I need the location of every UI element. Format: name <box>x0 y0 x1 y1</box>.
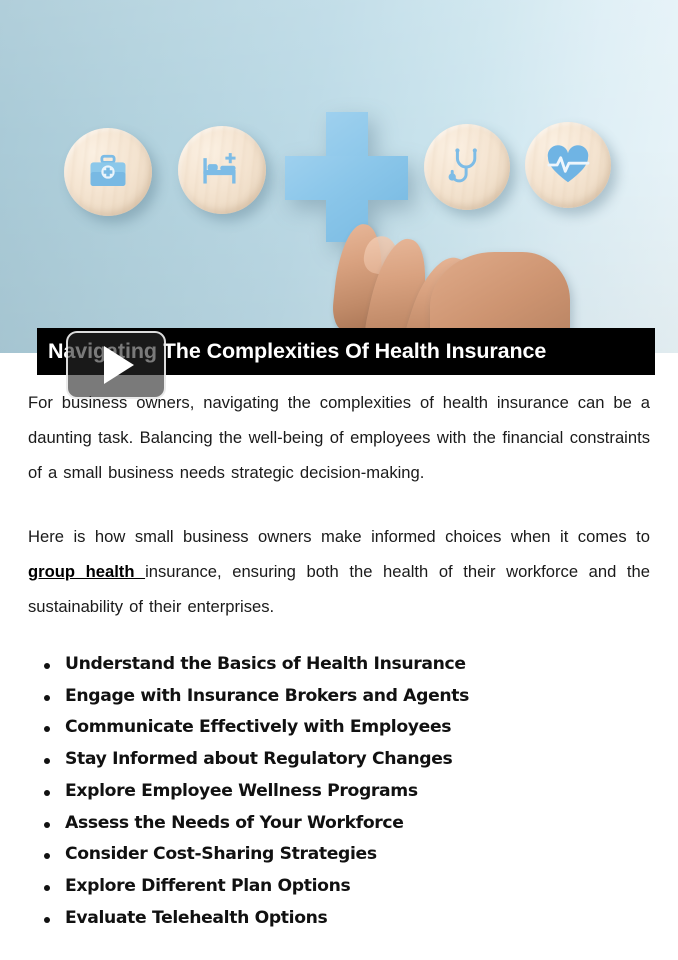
list-item: Consider Cost-Sharing Strategies <box>44 839 678 871</box>
stethoscope-chip <box>424 124 510 210</box>
group-health-link[interactable]: group health <box>28 562 145 581</box>
tips-list: Understand the Basics of Health Insuranc… <box>44 649 678 934</box>
list-item: Explore Employee Wellness Programs <box>44 776 678 808</box>
paragraph-2-text-before: Here is how small business owners make i… <box>28 527 650 546</box>
list-item-label: Stay Informed about Regulatory Changes <box>65 749 452 769</box>
bullet-dot <box>44 822 50 828</box>
cross-horizontal-bar <box>285 156 408 200</box>
bullet-dot <box>44 853 50 859</box>
stethoscope-icon <box>447 146 487 188</box>
list-item-label: Explore Different Plan Options <box>65 876 350 896</box>
list-item: Understand the Basics of Health Insuranc… <box>44 649 678 681</box>
bullet-dot <box>44 790 50 796</box>
list-item: Communicate Effectively with Employees <box>44 712 678 744</box>
list-item: Evaluate Telehealth Options <box>44 903 678 935</box>
list-item: Engage with Insurance Brokers and Agents <box>44 681 678 713</box>
medical-cross-icon <box>285 112 408 242</box>
first-aid-kit-icon <box>87 151 129 193</box>
list-item-label: Engage with Insurance Brokers and Agents <box>65 686 469 706</box>
list-item-label: Evaluate Telehealth Options <box>65 908 327 928</box>
bullet-dot <box>44 758 50 764</box>
play-triangle-icon <box>104 346 134 384</box>
hospital-bed-icon <box>200 149 244 191</box>
paragraph-2: Here is how small business owners make i… <box>28 519 650 624</box>
article-body: For business owners, navigating the comp… <box>0 385 678 934</box>
first-aid-kit-chip <box>64 128 152 216</box>
bullet-dot <box>44 695 50 701</box>
hospital-bed-chip <box>178 126 266 214</box>
paragraph-1: For business owners, navigating the comp… <box>28 385 650 490</box>
list-item: Stay Informed about Regulatory Changes <box>44 744 678 776</box>
bullet-dot <box>44 885 50 891</box>
bullet-dot <box>44 917 50 923</box>
list-item-label: Explore Employee Wellness Programs <box>65 781 418 801</box>
heart-pulse-chip <box>525 122 611 208</box>
bullet-dot <box>44 663 50 669</box>
list-item-label: Consider Cost-Sharing Strategies <box>65 844 377 864</box>
bullet-dot <box>44 726 50 732</box>
hero-image <box>0 0 678 353</box>
list-item-label: Communicate Effectively with Employees <box>65 717 451 737</box>
list-item-label: Understand the Basics of Health Insuranc… <box>65 654 466 674</box>
list-item: Explore Different Plan Options <box>44 871 678 903</box>
list-item-label: Assess the Needs of Your Workforce <box>65 813 404 833</box>
heart-pulse-icon <box>546 145 590 185</box>
play-button[interactable] <box>66 331 166 399</box>
list-item: Assess the Needs of Your Workforce <box>44 808 678 840</box>
page-root: Navigating The Complexities Of Health In… <box>0 0 678 960</box>
